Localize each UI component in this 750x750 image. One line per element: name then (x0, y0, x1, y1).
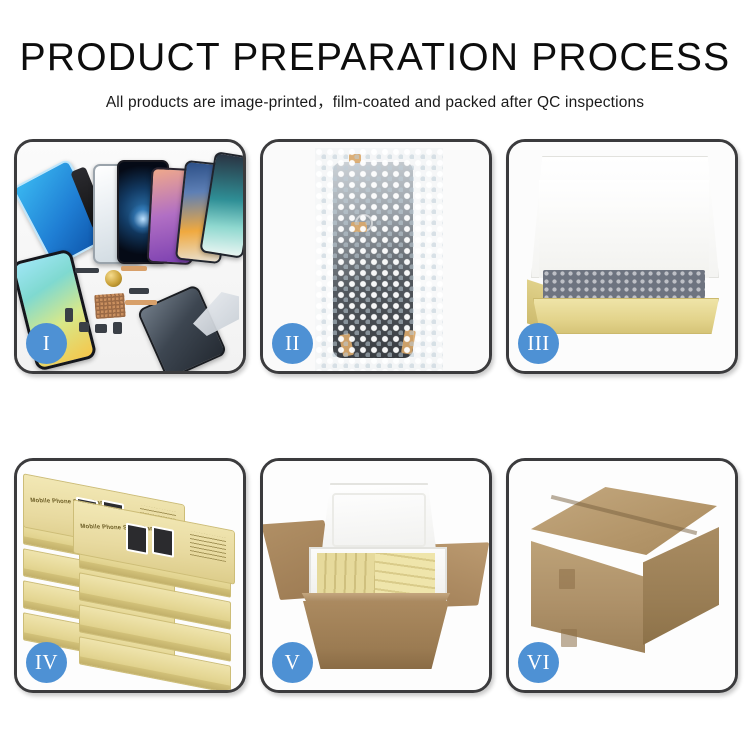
vibrator-icon (95, 324, 107, 333)
bubble-bag (315, 148, 443, 372)
flex-cable-long-icon (125, 300, 157, 305)
small-chip-icon (129, 288, 149, 294)
carton-handle-tab-icon (559, 569, 575, 589)
foam-lid-icon (321, 483, 437, 557)
button-flex-icon (65, 308, 73, 322)
process-step-panel-1: I (14, 139, 246, 374)
packed-yellow-boxes-angled-icon (375, 553, 435, 597)
bubble-texture-icon (315, 148, 443, 372)
logic-board-icon (94, 293, 126, 319)
battery-connector-icon (75, 268, 99, 273)
step-badge-1: I (26, 323, 67, 364)
carton-front-icon (303, 601, 449, 669)
product-photo-swatch (152, 526, 174, 558)
process-step-grid: I II III (14, 139, 736, 693)
flex-cable-icon (121, 266, 147, 271)
process-step-panel-5: V (260, 458, 492, 693)
step-badge-3: III (518, 323, 559, 364)
step-badge-2: II (272, 323, 313, 364)
process-step-panel-6: VI (506, 458, 738, 693)
page-subtitle: All products are image-printed，film-coat… (0, 90, 750, 112)
sim-tray-icon (113, 322, 122, 334)
camera-module-icon (79, 322, 89, 332)
step-badge-4: IV (26, 642, 67, 683)
yellow-box-front-icon (533, 298, 719, 334)
header: PRODUCT PREPARATION PROCESS All products… (0, 0, 750, 112)
process-step-panel-4: Mobile Phone Spare Parts Mobile Phone Sp… (14, 458, 246, 693)
foam-liner-icon (539, 180, 709, 278)
product-photo-swatch (126, 523, 148, 555)
process-step-panel-2: II (260, 139, 492, 374)
speaker-component-icon (105, 270, 122, 287)
step-badge-5: V (272, 642, 313, 683)
step-badge-6: VI (518, 642, 559, 683)
process-step-panel-3: III (506, 139, 738, 374)
spec-lines-icon (190, 531, 226, 562)
carton-handle-tab-icon (561, 629, 577, 647)
page-title: PRODUCT PREPARATION PROCESS (0, 38, 750, 77)
